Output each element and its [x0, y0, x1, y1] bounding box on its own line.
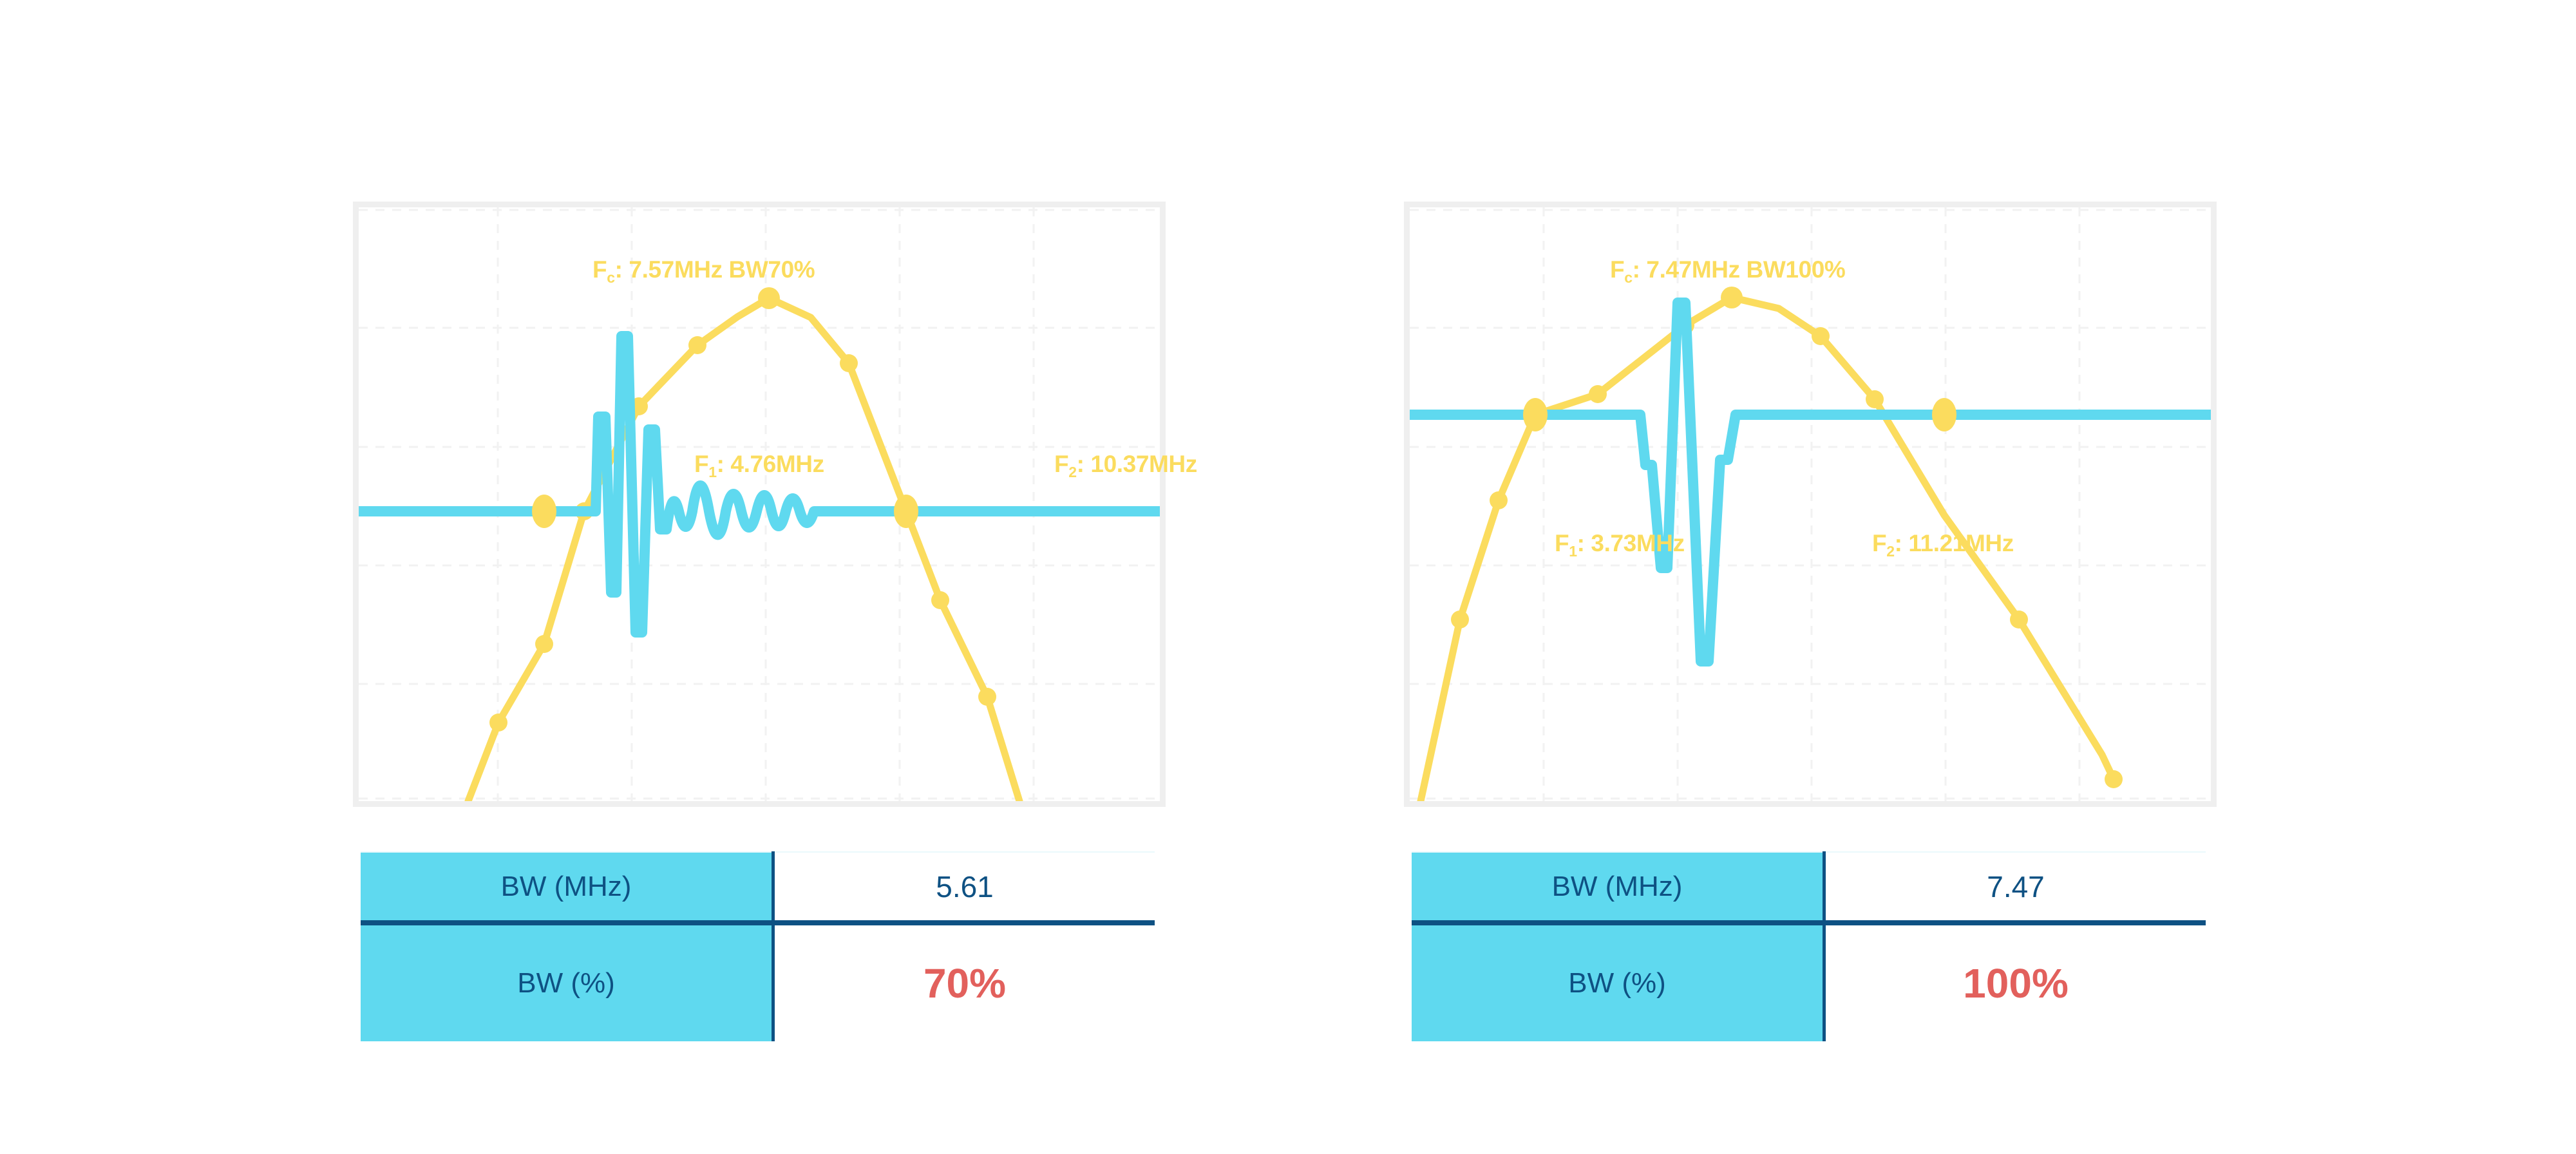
- fc-text-right: : 7.47MHz BW100%: [1633, 256, 1846, 283]
- table-row-bw-mhz-left: BW (MHz) 5.61: [361, 852, 1155, 923]
- f1-subscript-left: 1: [708, 464, 716, 480]
- bw-table-left: BW (MHz) 5.61 BW (%) 70%: [361, 851, 1155, 1041]
- chart-frame-left: [353, 202, 1166, 807]
- annotation-f2-left: F2: 10.37MHz: [1054, 452, 1197, 476]
- annotation-f1-left: F1: 4.76MHz: [694, 452, 824, 476]
- f2-subscript-right: 2: [1886, 543, 1894, 560]
- f1-subscript-right: 1: [1569, 543, 1577, 560]
- annotation-fc-left: Fc: 7.57MHz BW70%: [592, 258, 815, 281]
- table-row-bw-pct-right: BW (%) 100%: [1412, 923, 2206, 1041]
- bw-mhz-value-cell-left: 5.61: [773, 852, 1155, 923]
- f2-prefix-left: F: [1054, 451, 1068, 477]
- marker-f1-right: [1523, 398, 1548, 431]
- f1-prefix-right: F: [1555, 530, 1569, 556]
- bw-pct-label-left: BW (%): [361, 923, 773, 1041]
- fc-prefix-left: F: [592, 256, 607, 283]
- bw-mhz-value-left: 5.61: [936, 870, 994, 903]
- waveform-right: [1410, 303, 2211, 661]
- f2-prefix-right: F: [1872, 530, 1886, 556]
- annotation-f2-right: F2: 11.21MHz: [1872, 531, 2014, 555]
- f2-text-right: : 11.21MHz: [1895, 530, 2014, 556]
- bw-pct-value-cell-left: 70%: [773, 923, 1155, 1041]
- panel-right: Fc: 7.47MHz BW100% F1: 3.73MHz F2: 11.21…: [1373, 0, 2262, 1154]
- f1-prefix-left: F: [694, 451, 708, 477]
- bw-pct-label-right: BW (%): [1412, 923, 1824, 1041]
- plot-area-right: [1410, 207, 2211, 801]
- bw-pct-value-right: 100%: [1963, 960, 2069, 1007]
- f1-text-right: : 3.73MHz: [1577, 530, 1685, 556]
- bw-table-right: BW (MHz) 7.47 BW (%) 100%: [1412, 851, 2206, 1041]
- table-row-bw-pct-left: BW (%) 70%: [361, 923, 1155, 1041]
- spectrum-chart-right: [1410, 207, 2211, 801]
- bw-mhz-value-right: 7.47: [1987, 870, 2045, 903]
- waveform-left: [359, 336, 1160, 632]
- spectrum-chart-left: [359, 207, 1160, 801]
- spectrum-markers-right: [1451, 287, 2123, 788]
- panel-left: Fc: 7.57MHz BW70% F1: 4.76MHz F2: 10.37M…: [322, 0, 1211, 1154]
- plot-area-left: [359, 207, 1160, 801]
- f1-text-left: : 4.76MHz: [717, 451, 824, 477]
- gridlines-right: [1410, 207, 2211, 801]
- marker-f2-left: [894, 495, 918, 528]
- annotation-f1-right: F1: 3.73MHz: [1555, 531, 1685, 555]
- spectrum-curve-left: [468, 298, 1019, 801]
- f2-text-left: : 10.37MHz: [1077, 451, 1197, 477]
- bw-mhz-label-left: BW (MHz): [361, 852, 773, 923]
- bw-pct-value-left: 70%: [923, 960, 1006, 1007]
- figure-root: Fc: 7.57MHz BW70% F1: 4.76MHz F2: 10.37M…: [0, 0, 2576, 1154]
- bw-mhz-label-right: BW (MHz): [1412, 852, 1824, 923]
- f2-subscript-left: 2: [1068, 464, 1076, 480]
- annotation-fc-right: Fc: 7.47MHz BW100%: [1610, 258, 1845, 281]
- table-row-bw-mhz-right: BW (MHz) 7.47: [1412, 852, 2206, 923]
- bw-pct-value-cell-right: 100%: [1824, 923, 2206, 1041]
- fc-subscript-left: c: [607, 269, 614, 286]
- marker-f1-left: [532, 495, 556, 528]
- bw-mhz-value-cell-right: 7.47: [1824, 852, 2206, 923]
- chart-frame-right: [1404, 202, 2217, 807]
- fc-prefix-right: F: [1610, 256, 1624, 283]
- marker-f2-right: [1932, 398, 1956, 431]
- fc-text-left: : 7.57MHz BW70%: [615, 256, 815, 283]
- fc-subscript-right: c: [1624, 269, 1632, 286]
